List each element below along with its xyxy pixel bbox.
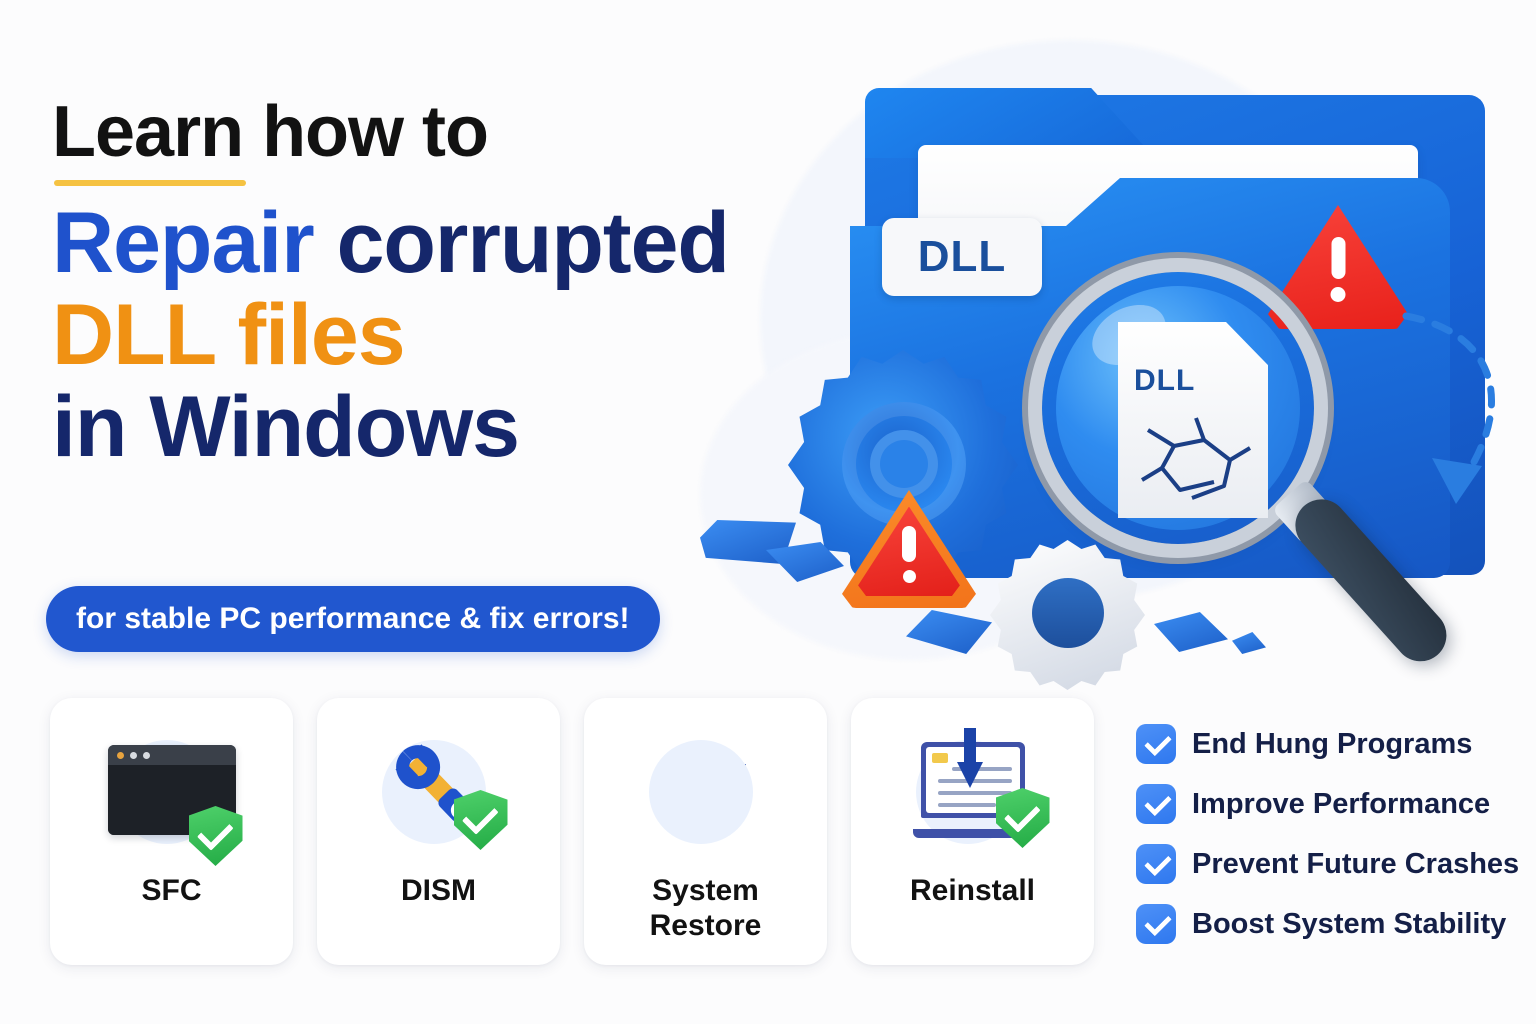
warning-triangle-orange-icon — [842, 490, 976, 608]
dll-file-label: DLL — [882, 218, 1042, 296]
method-cards-row: SFC — [50, 698, 1094, 965]
card-system-restore[interactable]: SystemRestore — [584, 698, 827, 965]
card-dism[interactable]: DISM — [317, 698, 560, 965]
laptop-text-line — [938, 791, 1012, 795]
benefit-label: Boost System Stability — [1192, 908, 1506, 941]
subtitle-badge: for stable PC performance & fix errors! — [46, 586, 660, 652]
checkbox-checked-icon[interactable] — [1136, 784, 1176, 824]
icon-halo — [649, 740, 753, 844]
headline-word-repair: Repair — [52, 195, 314, 291]
card-label-dism: DISM — [401, 874, 476, 909]
benefit-item: Improve Performance — [1136, 784, 1519, 824]
checkbox-checked-icon[interactable] — [1136, 844, 1176, 884]
download-arrow-icon — [957, 728, 983, 790]
checkbox-checked-icon[interactable] — [1136, 904, 1176, 944]
card-label-reinstall: Reinstall — [910, 874, 1035, 909]
broken-fragment — [1232, 632, 1266, 654]
card-reinstall[interactable]: Reinstall — [851, 698, 1094, 965]
benefit-item: Boost System Stability — [1136, 904, 1519, 944]
broken-fragment — [1154, 612, 1228, 652]
card-label-line1: System — [652, 874, 759, 907]
terminal-titlebar — [108, 745, 236, 765]
gear-blue-center — [870, 430, 938, 498]
laptop-text-line — [938, 803, 996, 807]
cracked-dll-document: DLL — [1118, 322, 1268, 518]
benefit-item: Prevent Future Crashes — [1136, 844, 1519, 884]
shield-check-icon — [996, 788, 1050, 848]
infographic-root: Learn how to Repair corrupted DLL files … — [0, 0, 1536, 1024]
reinstall-icon-wrap — [898, 728, 1048, 852]
card-label-system-restore: SystemRestore — [650, 874, 762, 943]
system-restore-icon-wrap — [631, 728, 781, 852]
crack-lines-icon — [1118, 322, 1268, 518]
benefit-item: End Hung Programs — [1136, 724, 1519, 764]
checkbox-checked-icon[interactable] — [1136, 724, 1176, 764]
gear-silver-center — [1032, 578, 1104, 648]
benefit-label: Improve Performance — [1192, 788, 1490, 821]
doc-corner-mark — [932, 753, 948, 763]
magnifier-lens: DLL — [1042, 272, 1314, 544]
warning-triangle-red-icon — [1268, 205, 1408, 329]
headline-gold-underline — [54, 180, 246, 186]
sfc-icon-wrap — [97, 728, 247, 852]
card-label-line2: Restore — [650, 909, 762, 942]
benefit-label: End Hung Programs — [1192, 728, 1472, 761]
shield-check-icon — [189, 806, 243, 866]
benefits-checklist: End Hung Programs Improve Performance Pr… — [1136, 724, 1519, 944]
dashed-curved-arrow-icon — [1398, 308, 1528, 528]
broken-fragment — [906, 610, 992, 654]
card-label-sfc: SFC — [142, 874, 202, 909]
hero-illustration: DLL — [660, 50, 1536, 670]
dism-icon-wrap — [364, 728, 514, 852]
card-sfc[interactable]: SFC — [50, 698, 293, 965]
benefit-label: Prevent Future Crashes — [1192, 848, 1519, 881]
